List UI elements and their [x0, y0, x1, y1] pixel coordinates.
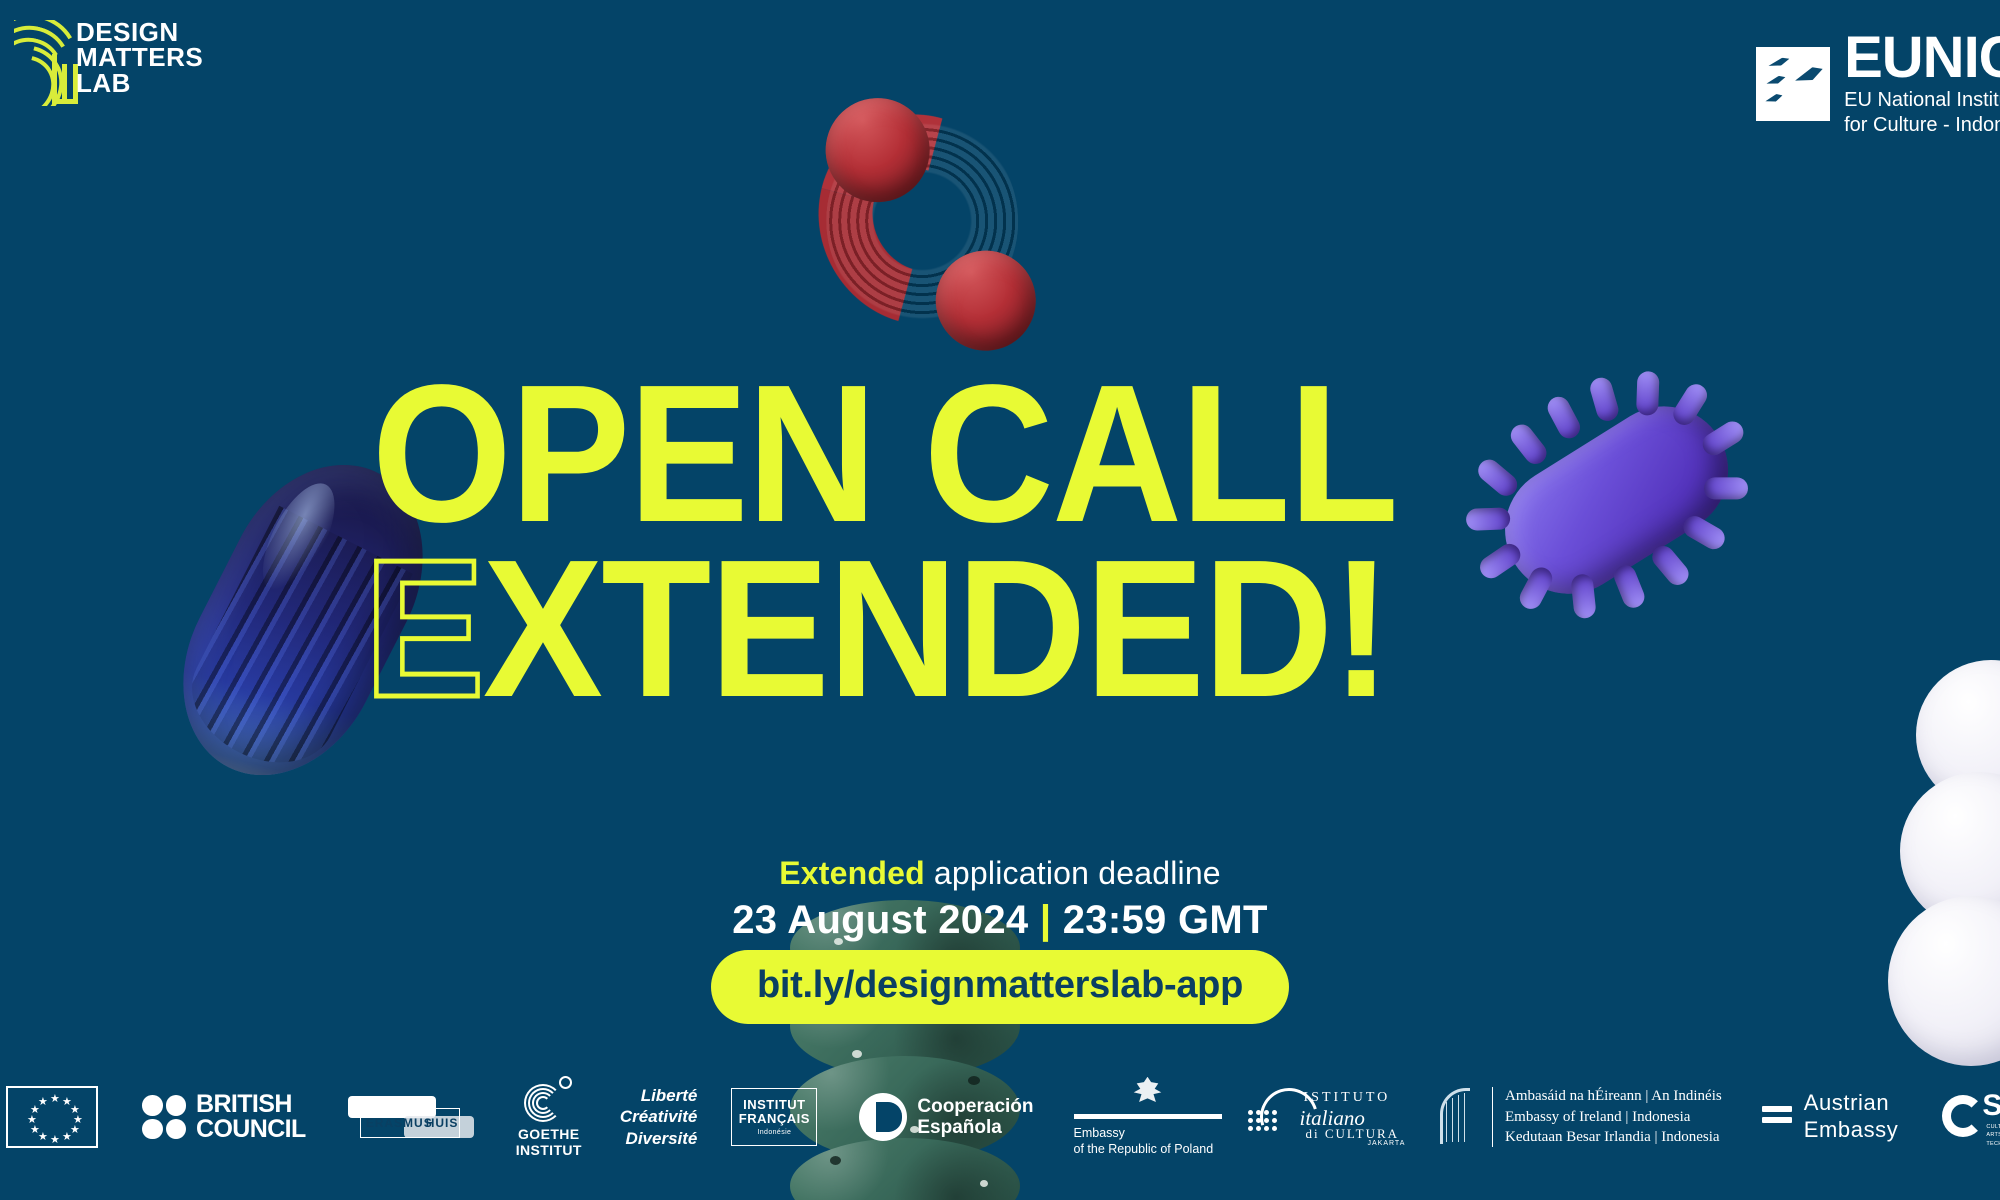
goethe-spiral-icon	[524, 1076, 574, 1122]
logo-line-3: LAB	[76, 71, 203, 96]
cooperacion-line-1: Cooperación	[917, 1096, 1033, 1117]
deadline-label: application deadline	[925, 855, 1221, 891]
deadline-label-row: Extended application deadline	[0, 855, 2000, 892]
headline-line-2: EXTENDED!	[0, 545, 1840, 714]
headline-line-1: OPEN CALL	[0, 370, 1840, 539]
sponsor-erasmus-huis: ERASMUS HUIS	[346, 1094, 472, 1140]
red-3d-object	[803, 94, 1055, 353]
erasmus-word-1: ERASMUS	[366, 1116, 433, 1130]
sponsor-embassy-of-poland: Embassy of the Republic of Poland	[1074, 1077, 1222, 1158]
poland-eagle-icon	[1133, 1077, 1163, 1107]
lcd-line-3: Diversité	[620, 1128, 697, 1149]
sponsor-cast: ST CULTURE ARTS SCIENCE TECHNOLOGY	[1942, 1089, 2000, 1145]
lcd-line-1: Liberté	[620, 1085, 697, 1106]
sponsor-istituto-italiano-di-cultura: ISTITUTO italiano di CULTURA JAKARTA	[1232, 1082, 1408, 1152]
istituto-line-4: JAKARTA	[1368, 1140, 1406, 1147]
austria-line-2: Embassy	[1804, 1117, 1899, 1144]
sponsor-british-council: BRITISH COUNCIL	[142, 1092, 306, 1142]
eunic-birds-icon	[1756, 47, 1830, 121]
eunic-acronym: EUNIC	[1844, 32, 2000, 84]
cast-label: ST	[1982, 1089, 2000, 1123]
poster-canvas: DESIGN MATTERS LAB EUNIC EU National Ins…	[0, 0, 2000, 1200]
cast-sub-2: ARTS SCIENCE	[1986, 1131, 2000, 1139]
cooperacion-c-icon	[859, 1093, 907, 1141]
austria-line-1: Austrian	[1804, 1090, 1899, 1117]
poland-line-2: of the Republic of Poland	[1074, 1141, 1222, 1157]
istituto-line-1: ISTITUTO	[1304, 1090, 1391, 1106]
sponsor-goethe-institut: GOETHE INSTITUT	[516, 1076, 582, 1157]
eu-flag-icon: ★ ★ ★ ★ ★ ★ ★ ★ ★ ★ ★ ★	[6, 1086, 98, 1148]
erasmus-word-2: HUIS	[426, 1116, 459, 1130]
cast-c-icon	[1942, 1095, 1984, 1137]
headline-block: OPEN CALL EXTENDED!	[0, 370, 2000, 713]
cast-sub-1: CULTURE	[1986, 1123, 2000, 1131]
design-matters-lab-logo: DESIGN MATTERS LAB	[14, 18, 214, 108]
headline-outline-letter: E	[364, 519, 482, 738]
goethe-line-2: INSTITUT	[516, 1143, 582, 1158]
sponsor-embassy-of-ireland: Ambasáid na hÉireann | An Indinéis Embas…	[1438, 1086, 1722, 1148]
ireland-line-1: Ambasáid na hÉireann | An Indinéis	[1505, 1086, 1722, 1107]
sponsor-austrian-embassy: Austrian Embassy	[1762, 1090, 1899, 1144]
eunic-subtitle-line-1: EU National Institutes	[1844, 88, 2000, 112]
eunic-logo: EUNIC EU National Institutes for Culture…	[1756, 32, 2000, 137]
ireland-line-2: Embassy of Ireland | Indonesia	[1505, 1107, 1722, 1128]
british-council-dots-icon	[142, 1095, 186, 1139]
application-link-button[interactable]: bit.ly/designmatterslab-app	[711, 950, 1289, 1024]
cast-sub-3: TECHNOLOGY	[1986, 1140, 2000, 1148]
deadline-datetime-row: 23 August 2024 | 23:59 GMT	[0, 898, 2000, 943]
irish-harp-icon	[1438, 1088, 1480, 1146]
sponsor-institut-francais: INSTITUT FRANÇAIS Indonésie	[731, 1088, 817, 1146]
lcd-line-2: Créativité	[620, 1106, 697, 1127]
headline-line-2-rest: XTENDED!	[483, 519, 1390, 738]
deadline-date: 23 August 2024	[732, 898, 1028, 942]
institut-francais-line-1: INSTITUT	[743, 1098, 806, 1112]
sponsor-liberte-creativite-diversite: Liberté Créativité Diversité	[620, 1085, 697, 1149]
institut-francais-line-2: FRANÇAIS	[739, 1112, 810, 1126]
design-matters-lab-wordmark: DESIGN MATTERS LAB	[76, 20, 203, 96]
deadline-emphasis: Extended	[779, 855, 925, 891]
sponsor-logo-strip: ★ ★ ★ ★ ★ ★ ★ ★ ★ ★ ★ ★ BRITISH COUNCIL	[0, 1074, 2000, 1160]
deadline-separator: |	[1040, 898, 1052, 942]
eunic-subtitle-line-2: for Culture - Indonesia	[1844, 113, 2000, 137]
deadline-time: 23:59 GMT	[1063, 898, 1268, 942]
institut-francais-line-3: Indonésie	[757, 1129, 791, 1136]
british-council-line-2: COUNCIL	[196, 1117, 306, 1142]
cooperacion-line-2: Española	[917, 1117, 1033, 1138]
ireland-line-3: Kedutaan Besar Irlandia | Indonesia	[1505, 1127, 1722, 1148]
deadline-block: Extended application deadline 23 August …	[0, 855, 2000, 943]
sponsor-european-union: ★ ★ ★ ★ ★ ★ ★ ★ ★ ★ ★ ★	[6, 1086, 98, 1148]
istituto-dots-icon	[1248, 1110, 1277, 1131]
austrian-flag-icon	[1762, 1106, 1792, 1128]
goethe-line-1: GOETHE	[516, 1127, 582, 1142]
british-council-line-1: BRITISH	[196, 1092, 306, 1117]
sponsor-cooperacion-espanola: Cooperación Española	[859, 1093, 1033, 1141]
poland-line-1: Embassy	[1074, 1125, 1222, 1141]
